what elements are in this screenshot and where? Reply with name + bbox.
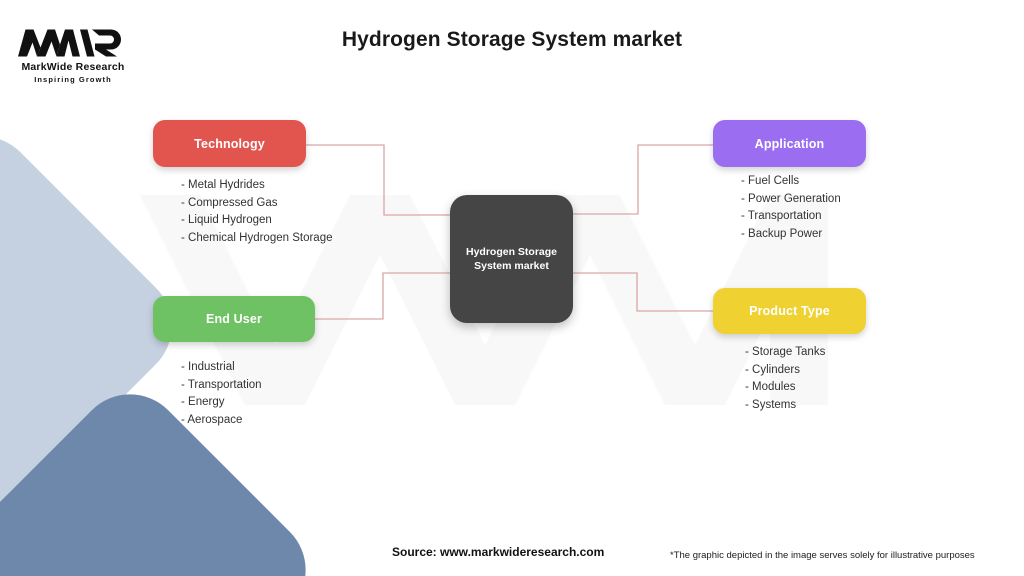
list-item: - Metal Hydrides <box>181 177 333 195</box>
connector-application <box>571 145 713 214</box>
disclaimer-text: *The graphic depicted in the image serve… <box>670 550 975 561</box>
list-item: - Transportation <box>741 208 841 226</box>
branch-items-technology: - Metal Hydrides - Compressed Gas - Liqu… <box>181 177 333 247</box>
branch-items-end-user: - Industrial - Transportation - Energy -… <box>181 359 262 429</box>
list-item: - Power Generation <box>741 191 841 209</box>
center-node-line2: System market <box>474 260 549 272</box>
branch-items-application: - Fuel Cells - Power Generation - Transp… <box>741 173 841 243</box>
list-item: - Liquid Hydrogen <box>181 212 333 230</box>
list-item: - Modules <box>745 379 825 397</box>
list-item: - Systems <box>745 397 825 415</box>
list-item: - Energy <box>181 394 262 412</box>
connector-end-user <box>315 273 452 319</box>
branch-label-technology: Technology <box>194 137 265 151</box>
list-item: - Chemical Hydrogen Storage <box>181 230 333 248</box>
branch-node-end-user[interactable]: End User <box>153 296 315 342</box>
branch-node-technology[interactable]: Technology <box>153 120 306 167</box>
branch-label-application: Application <box>755 137 825 151</box>
center-node[interactable]: Hydrogen Storage System market <box>450 195 573 323</box>
list-item: - Compressed Gas <box>181 195 333 213</box>
infographic-canvas: MarkWide Research Inspiring Growth Hydro… <box>0 0 1024 576</box>
list-item: - Industrial <box>181 359 262 377</box>
connector-product-type <box>571 273 713 311</box>
list-item: - Aerospace <box>181 412 262 430</box>
list-item: - Fuel Cells <box>741 173 841 191</box>
list-item: - Storage Tanks <box>745 344 825 362</box>
branch-node-application[interactable]: Application <box>713 120 866 167</box>
list-item: - Cylinders <box>745 362 825 380</box>
center-node-label: Hydrogen Storage System market <box>458 245 565 273</box>
branch-node-product-type[interactable]: Product Type <box>713 288 866 334</box>
branch-label-product-type: Product Type <box>749 304 830 318</box>
list-item: - Transportation <box>181 377 262 395</box>
list-item: - Backup Power <box>741 226 841 244</box>
center-node-line1: Hydrogen Storage <box>466 246 557 258</box>
branch-items-product-type: - Storage Tanks - Cylinders - Modules - … <box>745 344 825 414</box>
branch-label-end-user: End User <box>206 312 262 326</box>
source-label: Source: www.markwideresearch.com <box>392 545 604 559</box>
